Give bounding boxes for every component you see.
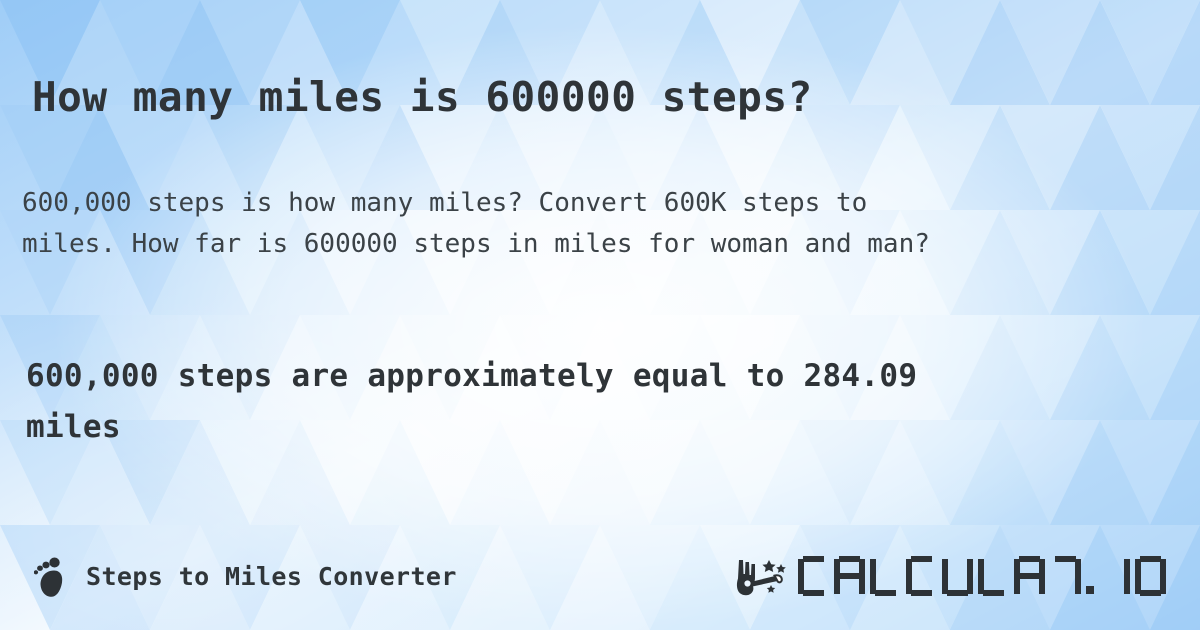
brand-logo[interactable] <box>734 554 1166 598</box>
conversion-result: 600,000 steps are approximately equal to… <box>26 351 1176 453</box>
brand-seg-dot <box>1086 586 1094 594</box>
brand-seg-i <box>1099 556 1130 596</box>
footprint-icon <box>34 553 68 599</box>
description-line-1: 600,000 steps is how many miles? Convert… <box>22 183 1182 224</box>
card-content: How many miles is 600000 steps? 600,000 … <box>0 0 1200 630</box>
brand-seg-l1 <box>870 556 901 596</box>
description-line-2: miles. How far is 600000 steps in miles … <box>22 224 1182 265</box>
brand-seg-o <box>1135 556 1166 596</box>
footer-converter-label: Steps to Miles Converter <box>86 562 457 591</box>
social-card: How many miles is 600000 steps? 600,000 … <box>0 0 1200 630</box>
result-line-1: 600,000 steps are approximately equal to… <box>26 351 1176 402</box>
page-description: 600,000 steps is how many miles? Convert… <box>22 183 1182 265</box>
magic-wand-hand-icon <box>734 554 792 598</box>
card-footer: Steps to Miles Converter <box>0 548 1200 604</box>
brand-seg-c2 <box>906 556 937 596</box>
brand-seg-l2 <box>978 556 1009 596</box>
brand-wordmark <box>798 556 1166 596</box>
brand-seg-a2 <box>1014 556 1045 596</box>
page-title: How many miles is 600000 steps? <box>32 71 1172 123</box>
brand-seg-a1 <box>834 556 865 596</box>
brand-seg-u <box>942 556 973 596</box>
brand-seg-t <box>1050 556 1081 596</box>
brand-seg-c1 <box>798 556 829 596</box>
result-line-2: miles <box>26 402 1176 453</box>
footer-converter-label-group: Steps to Miles Converter <box>34 553 457 599</box>
